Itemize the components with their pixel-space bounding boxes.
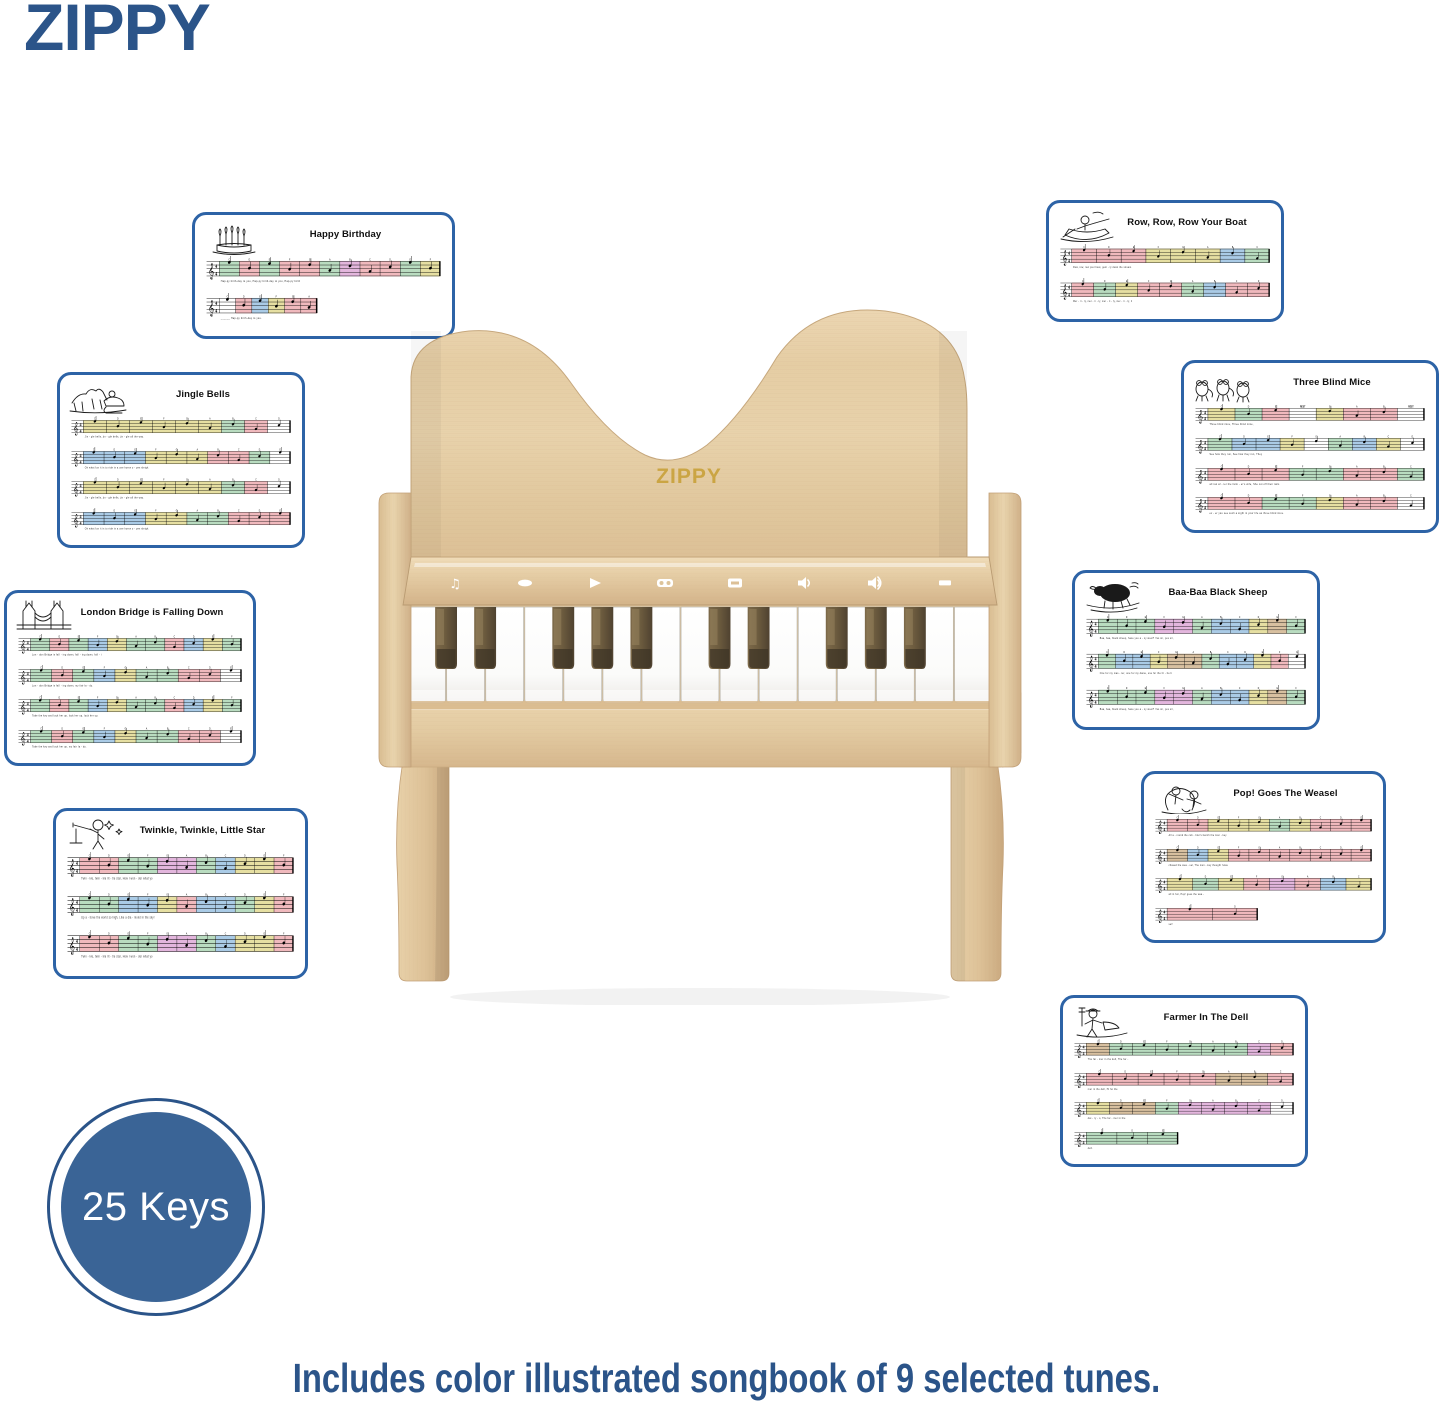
svg-text:Jin - gle bells, jin - gle bel: Jin - gle bells, jin - gle bells, jin - … <box>85 496 144 499</box>
svg-text:4: 4 <box>1163 856 1165 861</box>
song-card-header: Happy Birthday <box>203 221 444 255</box>
svg-text:4: 4 <box>80 513 82 518</box>
svg-text:G: G <box>292 295 294 298</box>
svg-text:4: 4 <box>27 731 29 736</box>
svg-text:Lon - don Bridge is fall - ing: Lon - don Bridge is fall - ing down, fal… <box>32 653 102 656</box>
song-sheet-music: 𝄞44CDEFGABCDEFLon - don Bridge is fall -… <box>15 633 245 756</box>
svg-text:all ran af - ter the farm - er: all ran af - ter the farm - er's wife, S… <box>1209 482 1280 485</box>
svg-text:G: G <box>166 853 168 858</box>
svg-text:B: B <box>349 258 351 261</box>
song-sheet-music: 𝄞44CDEFGABCRow, row, row your boat, gent… <box>1057 243 1273 312</box>
white-key-front <box>721 690 758 702</box>
black-key-sheen <box>827 609 834 645</box>
svg-text:G: G <box>186 418 188 420</box>
music-stave: 𝄞44CDEFGABCDEFHap-py birth-day to you, H… <box>205 256 442 293</box>
song-card-header: Three Blind Mice <box>1192 369 1428 403</box>
svg-text:REST: REST <box>1300 407 1306 409</box>
music-stave: 𝄞44CDEFGABCDdai - ry - o, The far - mer … <box>1073 1098 1295 1128</box>
svg-text:4: 4 <box>1204 410 1206 415</box>
svg-text:4: 4 <box>1204 469 1206 474</box>
brand-logo: ZIPPY <box>24 0 210 60</box>
svg-text:4: 4 <box>1083 1133 1085 1138</box>
tagline-text: Includes color illustrated songbook of 9… <box>145 1355 1307 1402</box>
black-key-tip <box>905 649 924 668</box>
music-stave: 𝄞44CDEFGABCDThe far - mer in the dell, T… <box>1073 1039 1295 1069</box>
music-stave: 𝄞44CDEFGABCDEAll a - round the cob - ble… <box>1154 815 1373 845</box>
farmer-icon <box>1071 1004 1133 1038</box>
svg-text:D: D <box>1126 616 1128 619</box>
svg-text:mer in the dell, Hi ho the: mer in the dell, Hi ho the <box>1088 1087 1118 1090</box>
black-key-sheen <box>905 609 912 645</box>
svg-text:𝄞: 𝄞 <box>20 670 26 684</box>
music-stave: 𝄞44CDEFGABCDEFBaa, baa, black sheep, hav… <box>1085 614 1307 649</box>
song-sheet-music: 𝄞44CDEFGABCDEAll a - round the cob - ble… <box>1152 814 1375 933</box>
svg-text:4: 4 <box>80 428 82 433</box>
svg-text:4: 4 <box>1163 886 1165 891</box>
music-stave: 𝄞44CDEFGABCDELon - don Bridge is fall - … <box>17 665 243 696</box>
svg-text:chased the wea - sel, The mon: chased the wea - sel, The mon - key thou… <box>1169 863 1229 866</box>
song-card-header: Row, Row, Row Your Boat <box>1057 209 1273 243</box>
svg-text:𝄞: 𝄞 <box>1088 691 1094 707</box>
svg-text:The far - mer in the dell, The: The far - mer in the dell, The far - <box>1088 1058 1129 1061</box>
svg-text:𝄞: 𝄞 <box>1197 498 1203 512</box>
song-card-header: London Bridge is Falling Down <box>15 599 245 633</box>
black-key-tip <box>593 649 612 668</box>
svg-text:𝄞: 𝄞 <box>1062 285 1067 300</box>
svg-text:𝄞: 𝄞 <box>1062 251 1067 266</box>
song-card-farmer-in-the-dell: Farmer In The Dell𝄞44CDEFGABCDThe far - … <box>1060 995 1308 1167</box>
svg-text:D: D <box>1258 616 1260 619</box>
svg-text:C: C <box>89 892 91 897</box>
svg-text:dai - ry - o, The far - mer in: dai - ry - o, The far - mer in the <box>1088 1117 1126 1120</box>
svg-text:Oh what fun it is to ride in a: Oh what fun it is to ride in a one horse… <box>85 527 150 530</box>
music-stave: 𝄞44CDEFGABCDEFLon - don Bridge is fall -… <box>17 634 243 665</box>
svg-text:E: E <box>264 853 266 858</box>
song-card-header: Farmer In The Dell <box>1071 1004 1297 1038</box>
song-card-row-your-boat: Row, Row, Row Your Boat𝄞44CDEFGABCRow, r… <box>1046 200 1284 322</box>
svg-text:D: D <box>108 853 110 858</box>
svg-text:E: E <box>264 931 266 936</box>
white-key-front <box>916 690 953 702</box>
svg-text:D: D <box>244 931 246 936</box>
svg-text:𝄞: 𝄞 <box>208 299 214 315</box>
music-stave: 𝄞44CDEFGABCDEFUp a - bove the world so h… <box>66 891 295 930</box>
svg-text:C: C <box>225 892 227 897</box>
svg-text:4: 4 <box>1163 850 1165 855</box>
svg-text:G: G <box>1296 651 1298 654</box>
svg-text:4: 4 <box>76 909 78 915</box>
svg-text:D: D <box>244 853 246 858</box>
svg-text:G: G <box>176 449 178 451</box>
svg-text:F: F <box>283 931 285 936</box>
svg-text:Take the key and lock her up,: Take the key and lock her up, my fair la… <box>32 745 87 748</box>
music-stave: 𝄞44CDEFGABCDEFTwin - kle, twin - kle lit… <box>66 852 295 891</box>
svg-text:𝄞: 𝄞 <box>208 263 214 279</box>
svg-text:𝄞: 𝄞 <box>73 452 79 466</box>
white-key-front <box>447 690 484 702</box>
svg-text:dell.: dell. <box>1088 1147 1093 1149</box>
svg-text:D: D <box>249 258 251 261</box>
svg-text:4: 4 <box>27 640 29 645</box>
music-stave: 𝄞44CDERESTGABRESTThree blind mice, Three… <box>1194 404 1426 434</box>
svg-text:A: A <box>186 931 188 936</box>
svg-text:G: G <box>1175 651 1177 654</box>
music-stave: 𝄞44CDEFGABCDEFBaa, baa, black sheep, hav… <box>1085 685 1307 720</box>
song-title: Happy Birthday <box>265 221 444 240</box>
svg-text:𝄞: 𝄞 <box>1076 1045 1082 1058</box>
white-key-front <box>955 690 992 702</box>
svg-text:G: G <box>1182 616 1184 619</box>
svg-text:♫: ♫ <box>449 577 461 592</box>
svg-text:𝄞: 𝄞 <box>1197 409 1203 423</box>
song-illustration <box>68 381 130 415</box>
black-key-tip <box>554 649 573 668</box>
svg-text:4: 4 <box>215 272 218 278</box>
black-key-tip <box>437 649 456 668</box>
svg-text:𝄞: 𝄞 <box>1076 1104 1082 1117</box>
song-illustration <box>64 817 126 851</box>
birthday-cake-icon <box>203 221 265 255</box>
black-key-sheen <box>554 609 561 645</box>
svg-text:D: D <box>243 295 245 298</box>
svg-text:4: 4 <box>1204 439 1206 444</box>
white-key-front <box>877 690 914 702</box>
svg-text:ZIPPY: ZIPPY <box>656 465 722 488</box>
svg-text:A: A <box>186 892 188 897</box>
svg-text:𝄞: 𝄞 <box>20 731 26 745</box>
svg-text:Up a - bove the world so high,: Up a - bove the world so high, Like a di… <box>81 915 154 920</box>
svg-text:sel!: sel! <box>1169 923 1173 925</box>
svg-text:G: G <box>186 479 188 481</box>
svg-text:4: 4 <box>1163 915 1165 920</box>
svg-text:C: C <box>89 931 91 936</box>
black-key-tip <box>866 649 885 668</box>
svg-text:G: G <box>166 931 168 936</box>
song-illustration <box>1057 209 1119 243</box>
svg-text:F: F <box>430 258 432 261</box>
white-key-front <box>486 690 523 702</box>
song-card-jingle-bells: Jingle Bells𝄞44CDEFGABCDJin - gle bells,… <box>57 372 305 548</box>
music-stave: 𝄞44CDEFGABCmer in the dell, Hi ho the <box>1073 1069 1295 1099</box>
svg-text:4: 4 <box>1083 1080 1085 1085</box>
svg-text:F: F <box>283 892 285 897</box>
music-stave: 𝄞44CDEFGABCDEFTake the key and lock her … <box>17 695 243 726</box>
song-sheet-music: 𝄞44CDERESTGABRESTThree blind mice, Three… <box>1192 403 1428 523</box>
svg-text:Twin - kle, twin - kle lit - t: Twin - kle, twin - kle lit - tle star, H… <box>81 876 152 881</box>
rowboat-icon <box>1057 209 1119 243</box>
white-key-front <box>604 690 641 702</box>
svg-text:4: 4 <box>1083 1103 1085 1108</box>
song-title: Jingle Bells <box>130 381 294 400</box>
svg-text:C: C <box>1106 651 1108 654</box>
music-stave: 𝄞44CDsel! <box>1154 904 1373 934</box>
svg-text:4: 4 <box>1204 446 1206 451</box>
svg-text:Baa, baa, black sheep, have yo: Baa, baa, black sheep, have you a - ny w… <box>1100 706 1174 711</box>
svg-text:𝄞: 𝄞 <box>20 639 26 653</box>
record-icon[interactable] <box>657 579 673 587</box>
demo-icon[interactable] <box>728 579 742 588</box>
svg-text:C: C <box>89 853 91 858</box>
black-key-sheen <box>866 609 873 645</box>
svg-text:G: G <box>116 637 118 639</box>
piano-white-key[interactable] <box>955 607 993 703</box>
svg-text:Take the key and lock her up,: Take the key and lock her up, lock her u… <box>32 714 99 717</box>
svg-text:𝄞: 𝄞 <box>1197 439 1203 453</box>
svg-text:4: 4 <box>80 483 82 488</box>
product-image-piano: ♫ ZIPPY <box>345 305 1055 1005</box>
song-card-header: Jingle Bells <box>68 381 294 415</box>
song-illustration <box>1071 1004 1133 1038</box>
badge-label: 25 Keys <box>82 1185 230 1230</box>
svg-text:G: G <box>1329 406 1331 408</box>
song-title: Three Blind Mice <box>1254 369 1428 388</box>
svg-text:A: A <box>186 853 188 858</box>
svg-text:C: C <box>227 295 229 298</box>
svg-text:4: 4 <box>1163 827 1165 832</box>
svg-text:4: 4 <box>27 677 29 682</box>
svg-text:G: G <box>1170 281 1172 283</box>
svg-text:𝄞: 𝄞 <box>1088 620 1094 636</box>
song-illustration <box>1083 579 1145 613</box>
svg-text:4: 4 <box>1204 499 1206 504</box>
svg-text:4: 4 <box>215 309 218 315</box>
song-illustration <box>203 221 265 255</box>
song-title: Farmer In The Dell <box>1133 1004 1297 1023</box>
svg-text:G: G <box>125 667 127 669</box>
song-card-three-blind-mice: Three Blind Mice𝄞44CDERESTGABRESTThree b… <box>1181 360 1439 533</box>
svg-text:4: 4 <box>27 670 29 675</box>
song-sheet-music: 𝄞44CDEFGABCDEFBaa, baa, black sheep, hav… <box>1083 613 1309 720</box>
song-card-baa-baa-black-sheep: Baa-Baa Black Sheep𝄞44CDEFGABCDEFBaa, ba… <box>1072 570 1320 730</box>
white-key-front <box>838 690 875 702</box>
stop-icon[interactable] <box>939 580 951 585</box>
child-telescope-icon <box>64 817 126 851</box>
keys-count-badge: 25 Keys <box>47 1098 265 1316</box>
weasel-jack-icon <box>1152 780 1214 814</box>
svg-text:4: 4 <box>1083 1139 1085 1144</box>
svg-text:C: C <box>369 258 371 261</box>
svg-text:4: 4 <box>1095 692 1097 698</box>
svg-text:𝄞: 𝄞 <box>1197 469 1203 483</box>
black-key-sheen <box>749 609 756 645</box>
svg-text:𝄞: 𝄞 <box>1157 880 1163 893</box>
svg-text:F: F <box>147 892 149 897</box>
svg-text:4: 4 <box>76 939 78 945</box>
svg-text:𝄞: 𝄞 <box>69 937 75 956</box>
svg-text:C: C <box>1239 687 1241 690</box>
song-title: Row, Row, Row Your Boat <box>1119 209 1273 228</box>
song-title: Baa-Baa Black Sheep <box>1145 579 1309 598</box>
music-note-icon[interactable]: ♫ <box>449 577 461 592</box>
svg-text:______ Hap-py birth-day to you: ______ Hap-py birth-day to you. <box>220 315 262 320</box>
black-key-tip <box>710 649 729 668</box>
svg-text:E: E <box>128 931 130 936</box>
music-stave: 𝄞44CDEFGABCall in fun, Pop! goes the wea… <box>1154 874 1373 904</box>
svg-text:4: 4 <box>1083 1110 1085 1115</box>
svg-text:B: B <box>205 892 207 897</box>
music-stave: 𝄞44CDEFGABCall ran af - ter the farm - e… <box>1194 464 1426 494</box>
svg-text:See how they run, See how they: See how they run, See how they run, They <box>1209 453 1262 456</box>
music-stave: 𝄞44CDEFGABCDEOh what fun it is to ride i… <box>70 508 292 539</box>
music-stave: 𝄞44CDEFGABCDJin - gle bells, jin - gle b… <box>70 416 292 447</box>
svg-text:D: D <box>1244 651 1246 654</box>
svg-text:4: 4 <box>1083 1051 1085 1056</box>
svg-text:B: B <box>205 931 207 936</box>
white-key-front <box>799 690 836 702</box>
music-stave: 𝄞44CDEFGABCDEFGOne for my mas - ter, one… <box>1085 649 1307 684</box>
svg-text:4: 4 <box>80 422 82 427</box>
svg-text:D: D <box>389 258 391 261</box>
svg-text:C: C <box>225 853 227 858</box>
music-stave: 𝄞44CDEFGABCDMer - ri - ly, mer - ri - ly… <box>1059 278 1271 312</box>
svg-text:4: 4 <box>215 265 218 271</box>
svg-text:E: E <box>128 892 130 897</box>
svg-text:4: 4 <box>1204 416 1206 421</box>
svg-text:E: E <box>269 258 271 261</box>
svg-text:Mer - ri - ly, mer - ri - ly,: Mer - ri - ly, mer - ri - ly, mer - ri -… <box>1073 300 1132 303</box>
song-illustration <box>1152 780 1214 814</box>
svg-text:4: 4 <box>76 900 78 906</box>
svg-text:A: A <box>329 258 331 261</box>
svg-text:Baa, baa, black sheep, have yo: Baa, baa, black sheep, have you a - ny w… <box>1100 635 1174 640</box>
svg-text:F: F <box>147 931 149 936</box>
svg-text:𝄞: 𝄞 <box>73 421 79 435</box>
white-key-front <box>760 690 797 702</box>
music-stave: 𝄞44CDEFGABCDJin - gle bells, jin - gle b… <box>70 477 292 508</box>
svg-text:4: 4 <box>27 701 29 706</box>
svg-text:Jin - gle bells, jin - gle bel: Jin - gle bells, jin - gle bells, jin - … <box>85 435 144 438</box>
badge-inner-disc: 25 Keys <box>61 1112 251 1302</box>
music-stave: 𝄞44CDEdell. <box>1073 1128 1295 1158</box>
svg-text:4: 4 <box>80 459 82 464</box>
svg-text:REST: REST <box>1408 407 1414 409</box>
white-key-front <box>408 690 445 702</box>
black-key-tip <box>476 649 495 668</box>
svg-text:D: D <box>1258 687 1260 690</box>
bridge-icon <box>15 599 77 633</box>
svg-text:𝄞: 𝄞 <box>20 700 26 714</box>
black-key-tip <box>749 649 768 668</box>
white-key-front <box>525 690 562 702</box>
svg-text:4: 4 <box>1095 621 1097 627</box>
music-stave: 𝄞44CDEFGABCRow, row, row your boat, gent… <box>1059 244 1271 278</box>
svg-text:4: 4 <box>1204 475 1206 480</box>
song-title: Twinkle, Twinkle, Little Star <box>126 817 297 836</box>
music-stave: 𝄞44CDEFGABCDEchased the wea - sel, The m… <box>1154 845 1373 875</box>
svg-text:4: 4 <box>80 489 82 494</box>
svg-text:G: G <box>1329 466 1331 468</box>
svg-text:A: A <box>308 295 310 298</box>
svg-text:F: F <box>289 258 291 261</box>
svg-text:4: 4 <box>1068 285 1070 291</box>
svg-text:D: D <box>244 892 246 897</box>
song-title: Pop! Goes The Weasel <box>1214 780 1375 799</box>
svg-text:G: G <box>166 892 168 897</box>
svg-text:G: G <box>309 258 311 261</box>
svg-text:D: D <box>108 892 110 897</box>
black-sheep-icon <box>1083 579 1145 613</box>
svg-text:4: 4 <box>1163 820 1165 825</box>
svg-text:𝄞: 𝄞 <box>1157 821 1163 834</box>
svg-text:Row, row, row your boat, gent: Row, row, row your boat, gent - ly down … <box>1073 266 1132 269</box>
svg-text:Oh what fun it is to ride in a: Oh what fun it is to ride in a one horse… <box>85 466 150 469</box>
black-key-tip <box>632 649 651 668</box>
svg-text:4: 4 <box>1204 505 1206 510</box>
svg-text:C: C <box>1107 616 1109 619</box>
svg-text:4: 4 <box>1083 1074 1085 1079</box>
song-card-header: Pop! Goes The Weasel <box>1152 780 1375 814</box>
svg-text:G: G <box>116 698 118 700</box>
svg-text:All a - round the cob - bler's: All a - round the cob - bler's bench the… <box>1169 834 1228 837</box>
svg-text:4: 4 <box>1068 251 1070 257</box>
svg-text:C: C <box>1107 687 1109 690</box>
power-icon[interactable] <box>518 580 532 587</box>
svg-text:𝄞: 𝄞 <box>69 898 75 917</box>
black-key-sheen <box>632 609 639 645</box>
svg-text:G: G <box>125 728 127 730</box>
svg-text:C: C <box>228 258 230 261</box>
svg-text:E: E <box>128 853 130 858</box>
song-sheet-music: 𝄞44CDEFGABCDJin - gle bells, jin - gle b… <box>68 415 294 538</box>
song-card-london-bridge: London Bridge is Falling Down𝄞44CDEFGABC… <box>4 590 256 766</box>
svg-text:𝄞: 𝄞 <box>73 513 79 527</box>
svg-text:Twin - kle, twin - kle lit - t: Twin - kle, twin - kle lit - tle star, H… <box>81 954 152 959</box>
svg-text:D: D <box>108 931 110 936</box>
svg-text:B: B <box>205 853 207 858</box>
svg-text:4: 4 <box>1095 656 1097 662</box>
svg-text:D: D <box>1124 651 1126 654</box>
svg-text:4: 4 <box>80 452 82 457</box>
svg-text:4: 4 <box>1083 1044 1085 1049</box>
music-stave: 𝄞44CDEFGABCDSee how they run, See how th… <box>1194 434 1426 464</box>
svg-text:E: E <box>410 258 412 261</box>
svg-text:D: D <box>1126 687 1128 690</box>
svg-text:C: C <box>225 931 227 936</box>
svg-text:4: 4 <box>1163 909 1165 914</box>
svg-text:E: E <box>264 892 266 897</box>
music-stave: 𝄞44CDEFGABCDETake the key and lock her u… <box>17 726 243 757</box>
white-key-front <box>564 690 601 702</box>
music-stave: 𝄞44CDEFGABCDEOh what fun it is to ride i… <box>70 447 292 478</box>
svg-text:F: F <box>283 853 285 858</box>
song-title: London Bridge is Falling Down <box>77 599 245 618</box>
svg-text:𝄞: 𝄞 <box>1076 1134 1082 1147</box>
svg-text:C: C <box>1227 651 1229 654</box>
svg-text:F: F <box>276 295 278 298</box>
song-card-header: Baa-Baa Black Sheep <box>1083 579 1309 613</box>
svg-text:𝄞: 𝄞 <box>1157 850 1163 863</box>
song-card-header: Twinkle, Twinkle, Little Star <box>64 817 297 851</box>
black-key-sheen <box>710 609 717 645</box>
svg-text:4: 4 <box>80 520 82 525</box>
svg-text:One for my mas - ter, one for: One for my mas - ter, one for my dame, o… <box>1100 671 1173 676</box>
three-mice-icon <box>1192 369 1254 403</box>
song-card-pop-goes-the-weasel: Pop! Goes The Weasel𝄞44CDEFGABCDEAll a -… <box>1141 771 1386 943</box>
white-key-front <box>643 690 680 702</box>
music-stave: 𝄞44CDEFGABCDEFTwin - kle, twin - kle lit… <box>66 930 295 969</box>
svg-text:𝄞: 𝄞 <box>1157 909 1163 922</box>
svg-text:4: 4 <box>76 948 78 954</box>
song-illustration <box>1192 369 1254 403</box>
svg-text:Hap-py birth-day to you, Hap-p: Hap-py birth-day to you, Hap-py birth-da… <box>221 278 301 283</box>
svg-text:4: 4 <box>215 301 218 307</box>
svg-text:ev - er you see such a sight i: ev - er you see such a sight in your lif… <box>1209 512 1284 515</box>
black-key-sheen <box>437 609 444 645</box>
svg-text:C: C <box>1239 616 1241 619</box>
svg-text:G: G <box>1182 687 1184 690</box>
svg-text:Three blind mice, Three bli: Three blind mice, Three blind mice, <box>1209 423 1253 426</box>
song-illustration <box>15 599 77 633</box>
